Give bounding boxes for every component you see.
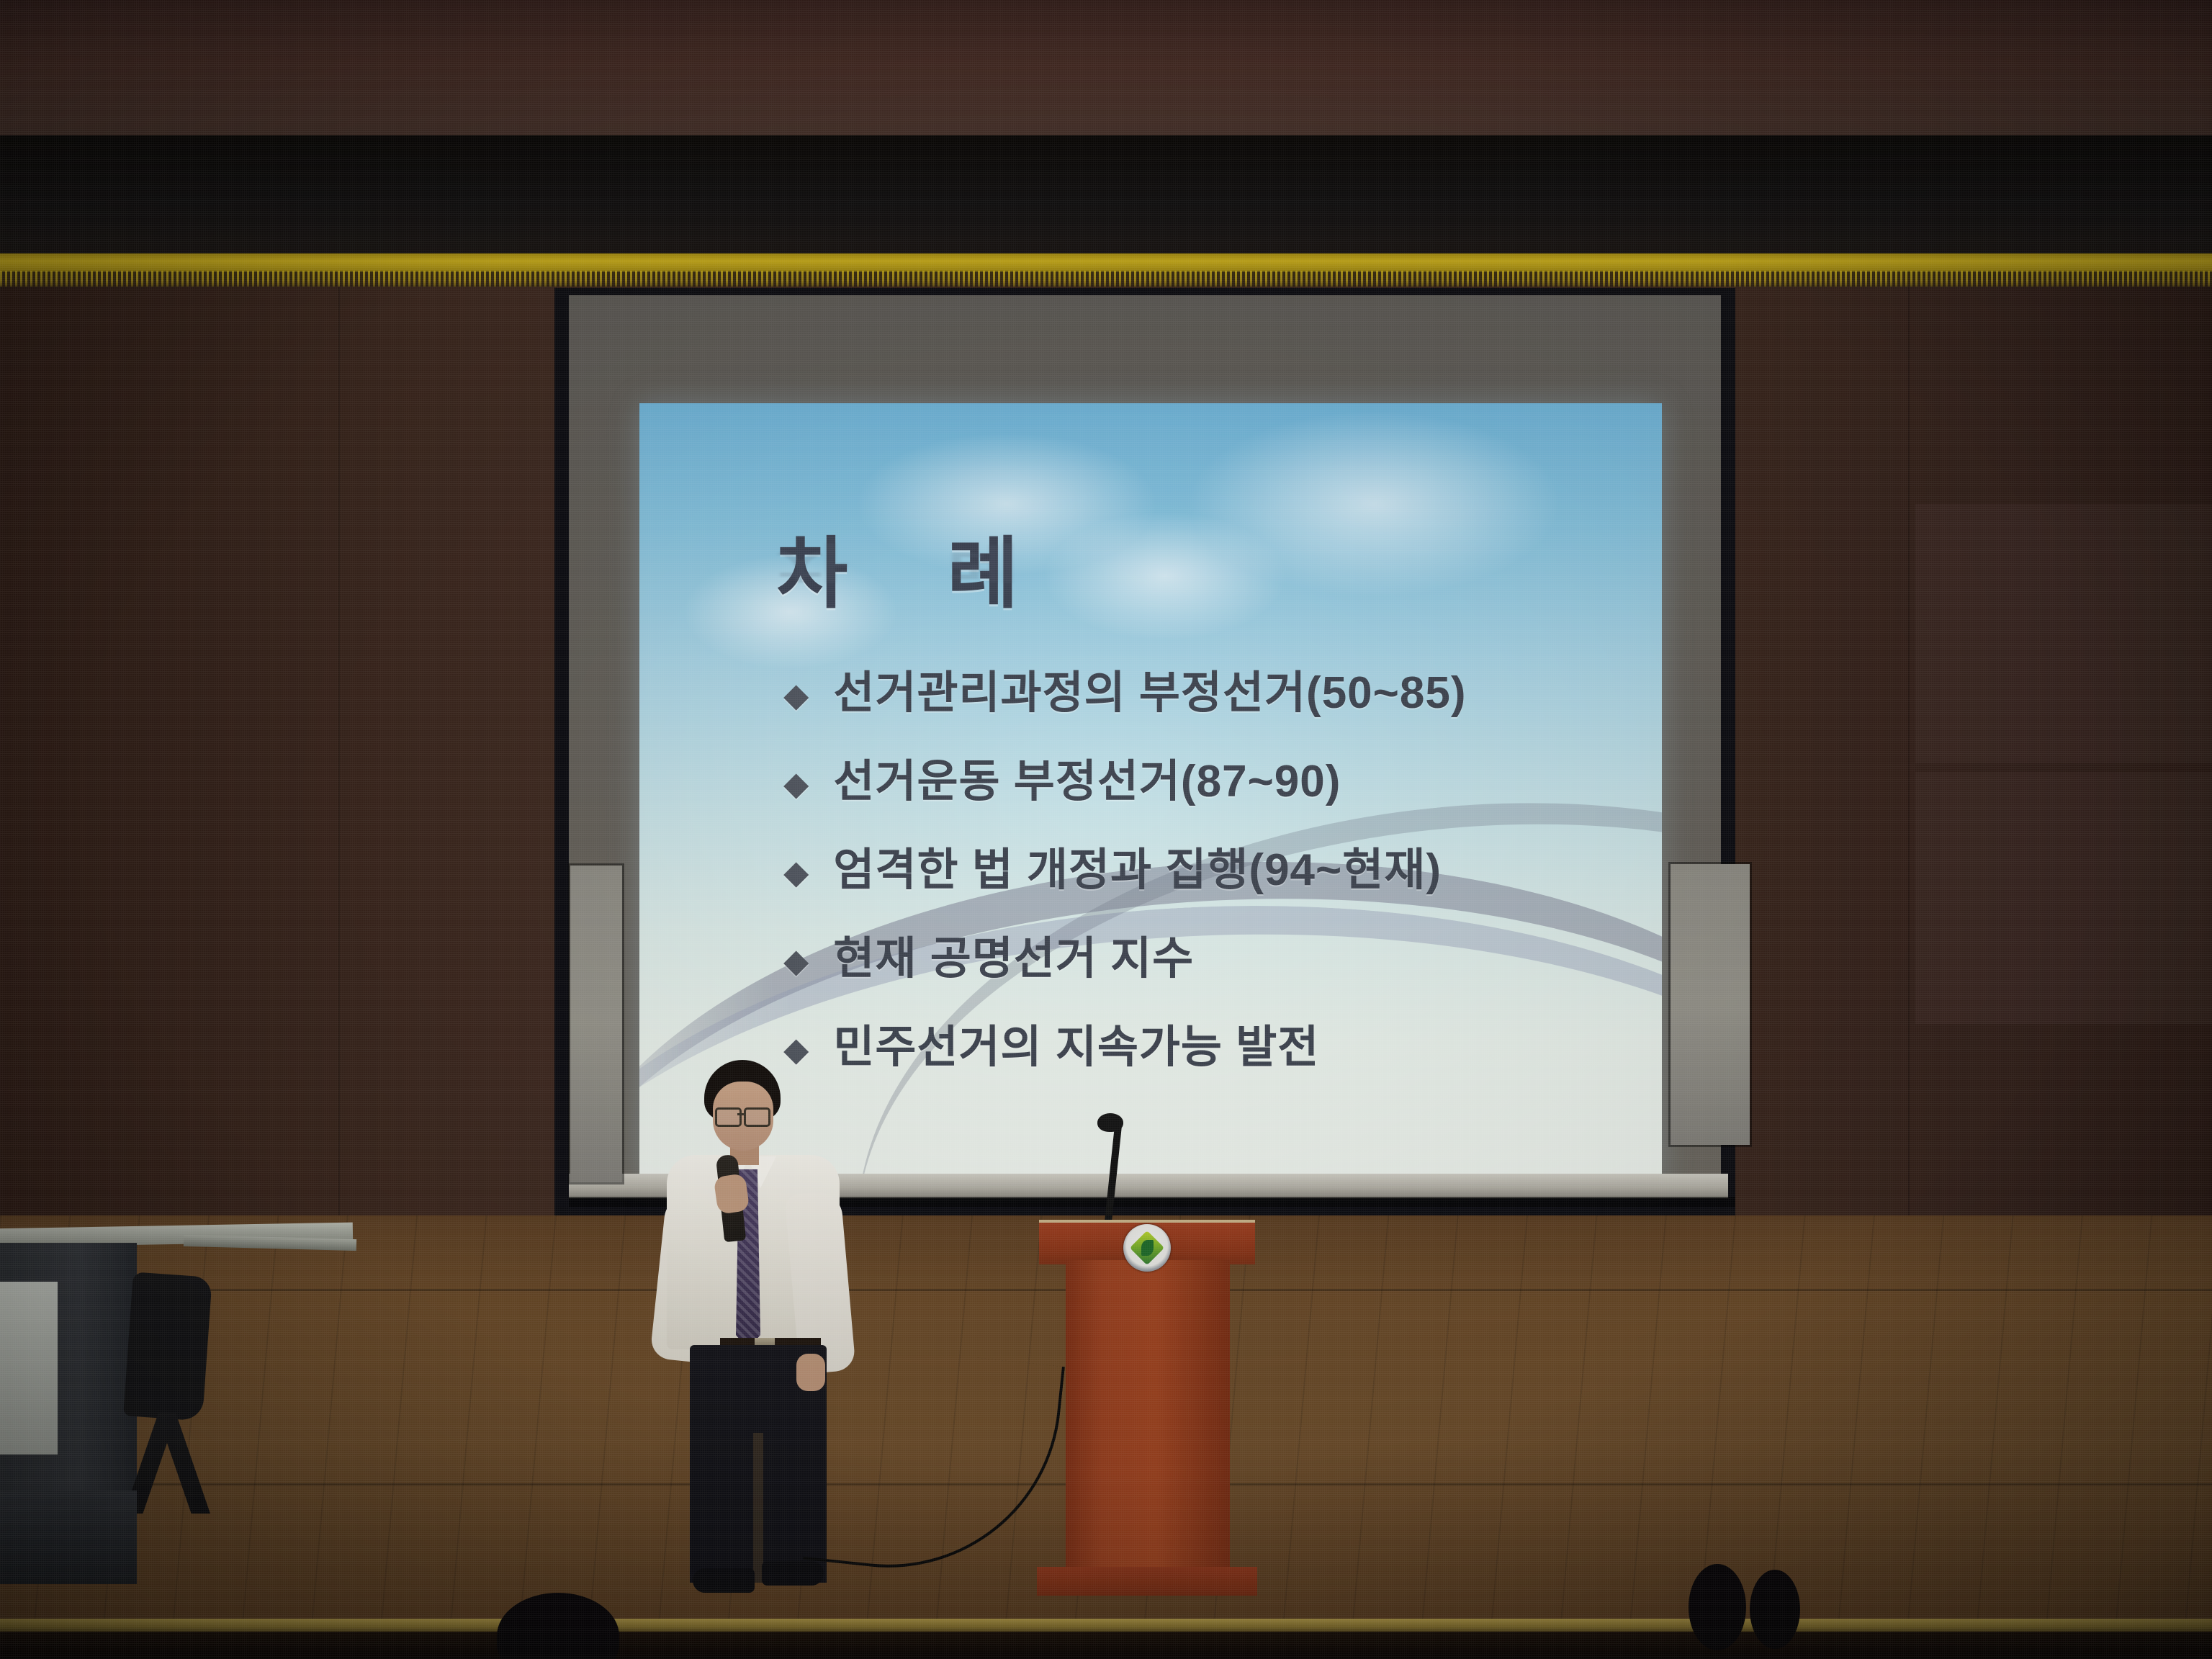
presentation-photo-scene: 차 례 차 례 ◆ 선거관리과정의 부정선거(50~85) ◆ 선거운동 부정선… (0, 0, 2212, 1659)
eyeglasses-icon (715, 1107, 742, 1127)
list-item: ◆ 선거운동 부정선거(87~90) (783, 758, 1619, 805)
eyeglasses-icon (744, 1107, 770, 1127)
list-item: ◆ 현재 공명선거 지수 (783, 935, 1619, 982)
av-console-screen (0, 1282, 58, 1455)
stage-edge-trim (0, 1619, 2212, 1633)
list-item-label: 선거운동 부정선거(87~90) (833, 758, 1341, 805)
ceiling (0, 0, 2212, 137)
acoustic-panel-right (1671, 864, 1750, 1145)
list-item: ◆ 엄격한 법 개정과 집행(94~현재) (783, 847, 1619, 894)
list-item-label: 엄격한 법 개정과 집행(94~현재) (833, 847, 1442, 894)
emblem-leaf-icon (1141, 1240, 1154, 1256)
projected-slide: 차 례 차 례 ◆ 선거관리과정의 부정선거(50~85) ◆ 선거운동 부정선… (639, 403, 1662, 1181)
slide-bullet-list: ◆ 선거관리과정의 부정선거(50~85) ◆ 선거운동 부정선거(87~90)… (783, 670, 1619, 1112)
stage-apron (0, 1632, 2212, 1659)
presenter-shoe-right (762, 1561, 824, 1586)
wall-seam-vertical (1908, 287, 1910, 1215)
audience-head (1750, 1570, 1800, 1649)
presenter-shoe-left (693, 1568, 755, 1593)
cloud-wisp (1043, 511, 1287, 641)
diamond-bullet-icon: ◆ (783, 855, 809, 889)
wall-panel-highlight (1915, 504, 2212, 763)
list-item-label: 민주선거의 지속가능 발전 (833, 1024, 1319, 1071)
podium-base (1037, 1567, 1257, 1596)
diamond-bullet-icon: ◆ (783, 944, 809, 977)
presenter-leg-gap (753, 1433, 763, 1583)
list-item-label: 현재 공명선거 지수 (833, 935, 1194, 982)
diamond-bullet-icon: ◆ (783, 767, 809, 800)
audience-head (1689, 1564, 1746, 1650)
av-console-base (0, 1491, 137, 1584)
back-wall-left-panel (0, 287, 554, 1215)
wall-panel-highlight (1915, 772, 2212, 1024)
valance-gold-band (0, 253, 2212, 272)
podium-body (1066, 1260, 1230, 1577)
list-item: ◆ 민주선거의 지속가능 발전 (783, 1024, 1619, 1071)
podium-emblem-icon (1123, 1224, 1171, 1272)
eyeglasses-bridge (737, 1113, 744, 1115)
gooseneck-microphone-icon (1097, 1113, 1123, 1132)
presenter-hand-holding-mic (714, 1173, 750, 1215)
list-item: ◆ 선거관리과정의 부정선거(50~85) (783, 670, 1619, 716)
stage-pelmet (0, 135, 2212, 259)
diamond-bullet-icon: ◆ (783, 678, 809, 711)
acoustic-panel-left (570, 866, 622, 1182)
diamond-bullet-icon: ◆ (783, 1033, 809, 1066)
wall-seam-vertical (338, 287, 340, 1215)
list-item-label: 선거관리과정의 부정선거(50~85) (833, 670, 1466, 716)
slide-title-reflection: 차 례 (776, 534, 1058, 596)
cloud-wisp (1187, 410, 1561, 598)
operator-chair (123, 1272, 212, 1421)
